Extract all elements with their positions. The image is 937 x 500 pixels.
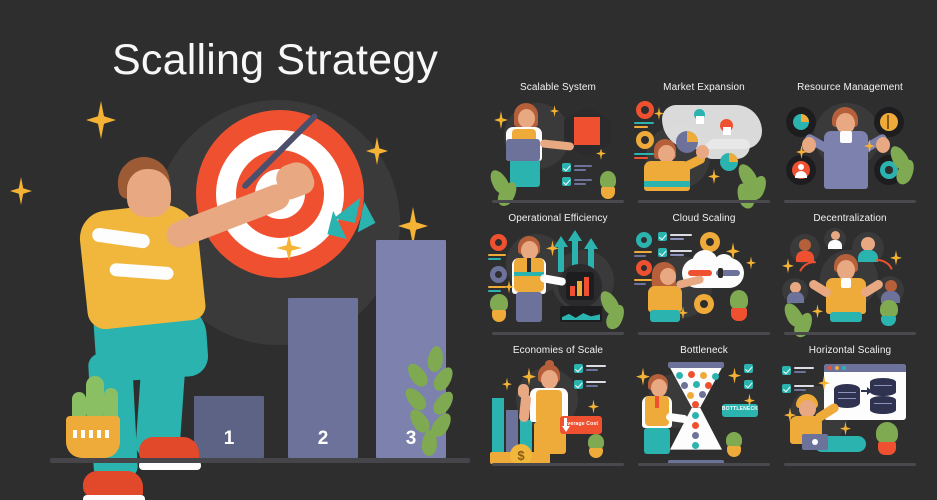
laptop-icon (506, 139, 540, 161)
database-icon (870, 396, 896, 414)
panel-bottleneck[interactable]: Bottleneck (634, 345, 774, 472)
panel-illustration (488, 97, 628, 205)
sparkle-star (746, 256, 756, 269)
plant-pot (727, 446, 741, 457)
location-pin-icon (694, 109, 705, 120)
location-pin-icon (720, 119, 733, 132)
plant-pot (601, 187, 615, 199)
panel-cloud-scaling[interactable]: Cloud Scaling (634, 213, 774, 340)
down-arrow-icon (562, 426, 570, 432)
checkbox-icon (562, 163, 571, 172)
panel-title: Market Expansion (634, 82, 774, 93)
panel-illustration (634, 228, 774, 336)
sparkle-star (890, 250, 902, 265)
checkbox-icon (782, 384, 791, 393)
panel-illustration (488, 228, 628, 336)
floor-line (50, 458, 470, 463)
sparkle-star (588, 400, 599, 414)
panel-title: Cloud Scaling (634, 213, 774, 224)
checkbox-icon (658, 248, 667, 257)
panel-market-expansion[interactable]: Market Expansion (634, 82, 774, 209)
plant-pot (731, 308, 747, 321)
checkbox-icon (574, 364, 583, 373)
panel-illustration (780, 360, 920, 468)
donut-chart-icon (636, 131, 654, 149)
bar-chart-icon (492, 398, 504, 454)
plant-pot (881, 316, 896, 326)
dollar-coin-icon (874, 107, 904, 137)
donut-chart-icon (636, 101, 654, 119)
sparkle-star (728, 368, 741, 384)
plant-pot (66, 416, 120, 458)
panel-scalable-system[interactable]: Scalable System (488, 82, 628, 209)
database-icon (834, 384, 860, 408)
database-icon (870, 378, 896, 396)
panel-resource-management[interactable]: Resource Management (780, 82, 920, 209)
panel-title: Horizontal Scaling (780, 345, 920, 356)
pie-chart-icon (786, 107, 816, 137)
donut-chart-icon (636, 260, 652, 276)
up-arrow-icon (558, 246, 564, 272)
sparkle-star (502, 378, 512, 391)
leaf-spray (402, 346, 458, 456)
head (127, 169, 171, 217)
sparkle-star (10, 177, 32, 205)
panel-operational-efficiency[interactable]: Operational Efficiency (488, 213, 628, 340)
panel-title: Scalable System (488, 82, 628, 93)
sparkle-star (708, 169, 720, 184)
bar-chart-icon (566, 272, 594, 300)
pie-chart-icon (676, 131, 698, 153)
checkbox-icon (782, 366, 791, 375)
panel-illustration (780, 97, 920, 205)
panel-grid: Scalable System (488, 82, 920, 472)
plant-icon (876, 422, 898, 444)
sparkle-star (782, 258, 794, 273)
checkbox-icon (574, 380, 583, 389)
panel-title: Operational Efficiency (488, 213, 628, 224)
panel-economies-of-scale[interactable]: Economies of Scale $ (488, 345, 628, 472)
panel-title: Decentralization (780, 213, 920, 224)
page-title: Scalling Strategy (112, 36, 438, 85)
plant-pot (492, 310, 506, 322)
laptop-icon (802, 434, 828, 450)
right-arrow-icon (867, 387, 872, 395)
checkbox-icon (744, 364, 753, 373)
panel-illustration (634, 97, 774, 205)
bar-label: 2 (288, 428, 358, 450)
panel-horizontal-scaling[interactable]: Horizontal Scaling (780, 345, 920, 472)
sparkle-star (812, 304, 823, 318)
hero-section: Scalling Strategy (0, 0, 470, 500)
pie-chart-icon (720, 153, 738, 171)
plant-pot (878, 442, 896, 455)
panel-decentralization[interactable]: Decentralization (780, 213, 920, 340)
panel-illustration: BOTTLENECK (634, 360, 774, 468)
user-avatar-icon (786, 155, 816, 185)
cactus-icon (730, 290, 748, 310)
gear-icon (694, 294, 714, 314)
gear-icon (700, 232, 720, 252)
cube-icon (574, 117, 600, 145)
window-titlebar (824, 364, 906, 372)
plant-pot (589, 448, 603, 458)
infographic-root: Scalling Strategy (0, 0, 937, 500)
panel-title: Economies of Scale (488, 345, 628, 356)
hero-illustration: 3 2 1 (0, 95, 470, 480)
user-avatar-icon (824, 228, 846, 250)
checkbox-icon (658, 232, 667, 241)
donut-chart-icon (490, 266, 507, 283)
bar-step-2: 2 (288, 298, 358, 458)
bottleneck-badge: BOTTLENECK (722, 404, 758, 417)
checkbox-icon (562, 177, 571, 186)
panel-illustration (780, 228, 920, 336)
checkbox-icon (744, 380, 753, 389)
hourglass-funnel-icon (668, 362, 724, 368)
donut-chart-icon (636, 232, 652, 248)
panel-title: Bottleneck (634, 345, 774, 356)
donut-chart-icon (490, 234, 507, 251)
panel-title: Resource Management (780, 82, 920, 93)
user-avatar-icon (790, 234, 820, 264)
sneaker (83, 471, 143, 497)
area-chart-icon (560, 306, 602, 322)
panel-illustration: $ (488, 360, 628, 468)
